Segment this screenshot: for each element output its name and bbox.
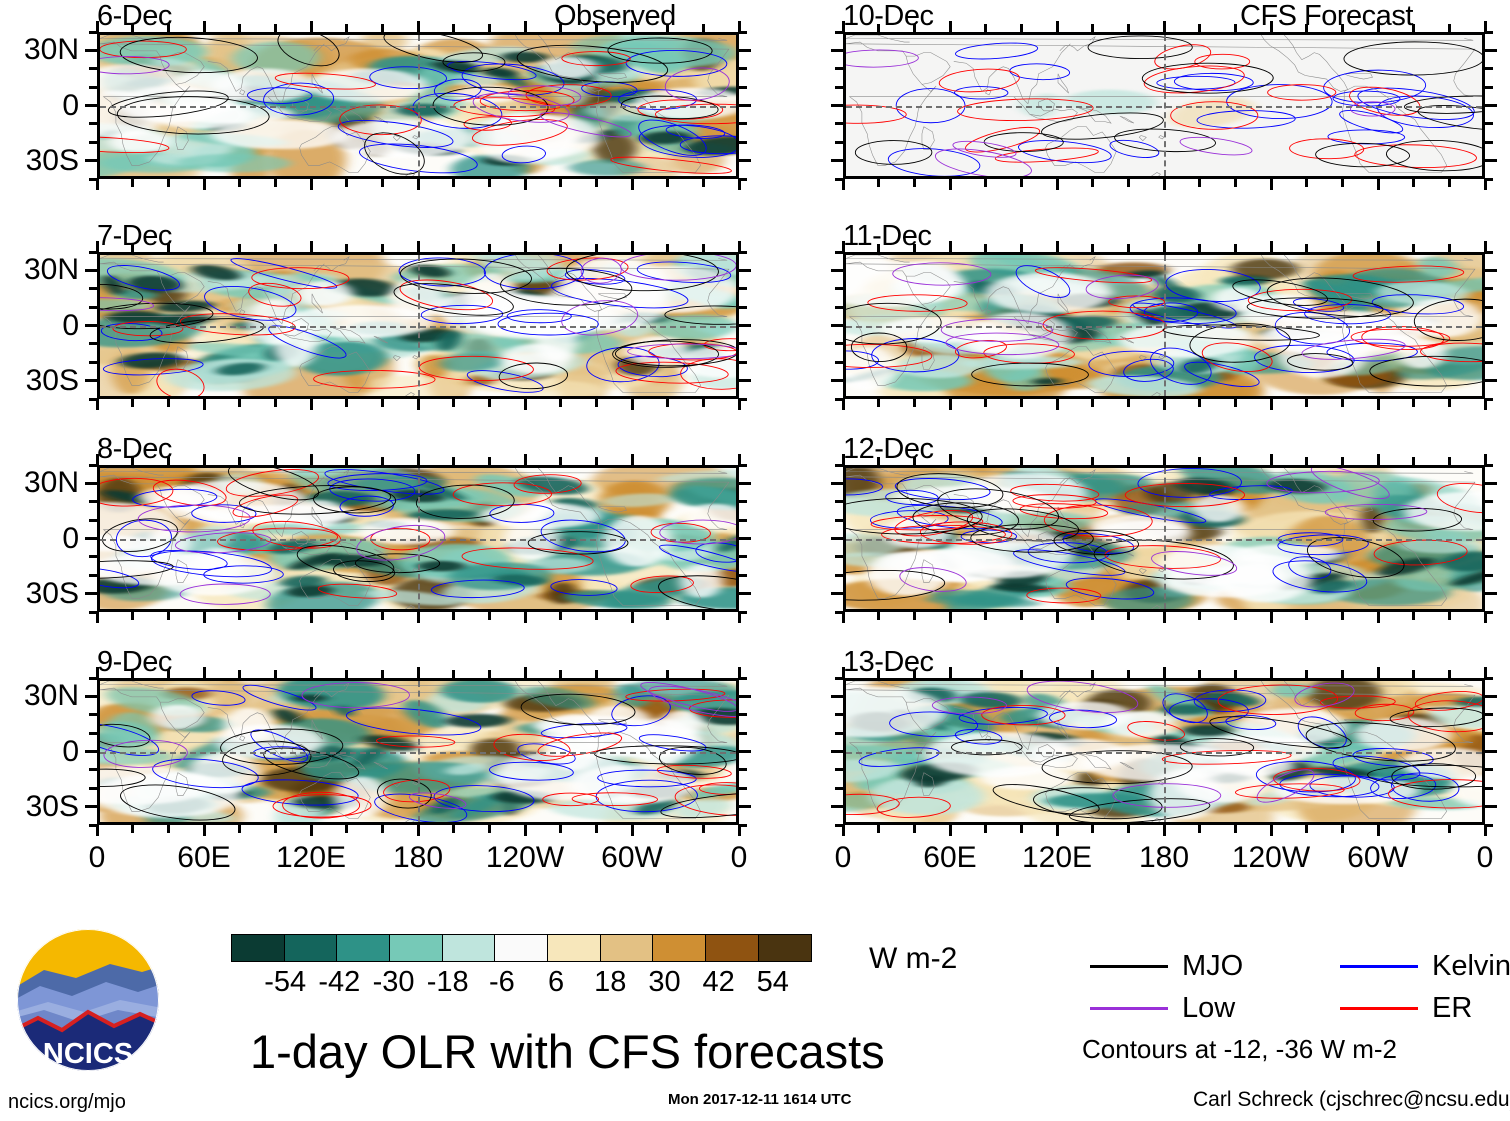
y-tick	[739, 574, 747, 577]
y-tick	[835, 464, 843, 467]
x-tick	[1234, 24, 1237, 32]
x-tick	[274, 24, 277, 32]
y-tick	[739, 342, 747, 345]
x-tick	[96, 179, 99, 190]
x-tick	[203, 454, 206, 465]
map-panel-10-dec	[843, 32, 1485, 179]
x-tick	[559, 670, 562, 678]
x-tick	[949, 612, 952, 623]
x-tick	[1377, 241, 1380, 252]
y-tick	[835, 67, 843, 70]
x-tick	[131, 179, 134, 187]
y-tick	[739, 86, 747, 89]
y-tick	[739, 824, 747, 827]
x-tick	[310, 179, 313, 190]
x-axis-label: 60E	[177, 843, 230, 873]
x-tick	[96, 825, 99, 836]
x-axis-label: 60E	[923, 843, 976, 873]
x-tick	[452, 612, 455, 620]
y-tick	[739, 611, 747, 614]
x-tick	[559, 457, 562, 465]
y-tick	[1485, 287, 1493, 290]
x-tick	[595, 825, 598, 833]
x-tick	[345, 612, 348, 620]
x-tick	[666, 244, 669, 252]
x-tick	[702, 244, 705, 252]
x-tick	[1163, 454, 1166, 465]
x-tick	[984, 24, 987, 32]
y-tick	[1485, 324, 1497, 327]
x-tick	[1198, 612, 1201, 620]
x-tick	[1234, 825, 1237, 833]
y-tick	[835, 398, 843, 401]
ncics-logo-svg: NCICS	[14, 926, 162, 1074]
y-tick	[89, 500, 97, 503]
y-tick	[835, 732, 843, 735]
y-tick	[739, 482, 751, 485]
x-tick	[1056, 399, 1059, 410]
x-tick	[595, 399, 598, 407]
x-tick	[559, 24, 562, 32]
legend-label: MJO	[1182, 952, 1243, 981]
x-tick	[1270, 612, 1273, 623]
y-tick	[89, 787, 97, 790]
x-tick	[310, 241, 313, 252]
y-tick	[739, 398, 747, 401]
y-tick	[739, 178, 747, 181]
y-tick	[89, 574, 97, 577]
x-axis-label: 120E	[276, 843, 346, 873]
x-tick	[238, 24, 241, 32]
x-tick	[702, 670, 705, 678]
colorbar-tick: -42	[318, 968, 360, 997]
x-tick	[1270, 179, 1273, 190]
x-tick	[1198, 24, 1201, 32]
x-tick	[877, 179, 880, 187]
colorbar-swatch	[284, 934, 338, 962]
x-tick	[1198, 825, 1201, 833]
y-tick	[89, 86, 97, 89]
x-tick	[1412, 24, 1415, 32]
x-tick	[666, 612, 669, 620]
ncics-logo-text: NCICS	[43, 1038, 133, 1070]
y-tick	[1485, 500, 1493, 503]
y-tick	[835, 519, 843, 522]
x-tick	[274, 179, 277, 187]
x-tick	[1056, 454, 1059, 465]
x-tick	[524, 21, 527, 32]
colorbar-tick: -54	[264, 968, 306, 997]
x-tick	[1448, 670, 1451, 678]
y-tick	[1485, 361, 1493, 364]
x-tick	[949, 179, 952, 190]
x-axis-label: 60W	[601, 843, 663, 873]
dateline	[418, 468, 420, 609]
colorbar-swatch	[389, 934, 443, 962]
colorbar-swatch	[336, 934, 390, 962]
y-tick	[835, 574, 843, 577]
x-tick	[1020, 24, 1023, 32]
x-tick	[488, 670, 491, 678]
x-tick	[131, 244, 134, 252]
y-tick	[89, 361, 97, 364]
x-tick	[524, 179, 527, 190]
x-tick	[488, 612, 491, 620]
x-tick	[738, 825, 741, 836]
colorbar-swatch	[600, 934, 654, 962]
x-tick	[167, 24, 170, 32]
x-tick	[1163, 399, 1166, 410]
x-tick	[1341, 457, 1344, 465]
y-axis-label: 0	[62, 91, 79, 121]
x-axis-label: 0	[1477, 843, 1494, 873]
x-tick	[984, 612, 987, 620]
x-tick	[1091, 457, 1094, 465]
y-tick	[89, 611, 97, 614]
x-tick	[1091, 825, 1094, 833]
x-tick	[949, 21, 952, 32]
x-tick	[452, 670, 455, 678]
x-tick	[1163, 667, 1166, 678]
y-tick	[739, 324, 751, 327]
contour-note: Contours at -12, -36 W m-2	[1082, 1036, 1397, 1062]
x-tick	[1127, 24, 1130, 32]
legend-entry-low: Low	[1090, 994, 1235, 1023]
colorbar-swatch	[494, 934, 548, 962]
x-tick	[203, 179, 206, 190]
x-tick	[913, 24, 916, 32]
y-tick	[835, 342, 843, 345]
y-tick	[1485, 86, 1493, 89]
x-tick	[1484, 399, 1487, 410]
x-tick	[238, 399, 241, 407]
y-tick	[85, 104, 97, 107]
x-tick	[1270, 454, 1273, 465]
legend-label: ER	[1432, 994, 1472, 1023]
map-panel-13-dec	[843, 678, 1485, 825]
colorbar-swatch	[705, 934, 759, 962]
x-axis-label: 0	[89, 843, 106, 873]
x-tick	[1091, 612, 1094, 620]
panel-date-label-8-dec: 8-Dec	[97, 435, 172, 464]
x-tick	[1341, 179, 1344, 187]
y-tick	[739, 750, 751, 753]
x-tick	[1198, 399, 1201, 407]
x-tick	[524, 241, 527, 252]
x-tick	[1377, 612, 1380, 623]
x-tick	[1377, 179, 1380, 190]
x-tick	[310, 612, 313, 623]
x-tick	[1305, 179, 1308, 187]
x-tick	[1377, 399, 1380, 410]
x-tick	[381, 244, 384, 252]
x-tick	[559, 825, 562, 833]
y-tick	[835, 611, 843, 614]
x-tick	[167, 612, 170, 620]
y-tick	[739, 787, 747, 790]
x-tick	[738, 179, 741, 190]
x-tick	[877, 612, 880, 620]
x-tick	[238, 179, 241, 187]
x-tick	[877, 24, 880, 32]
x-tick	[702, 399, 705, 407]
x-tick	[524, 825, 527, 836]
x-tick	[274, 670, 277, 678]
dateline	[418, 255, 420, 396]
legend-line-swatch	[1090, 965, 1168, 968]
x-tick	[1056, 612, 1059, 623]
y-tick	[1485, 695, 1497, 698]
x-tick	[1056, 825, 1059, 836]
legend-label: Kelvin	[1432, 952, 1510, 981]
x-tick	[96, 399, 99, 410]
y-tick	[835, 122, 843, 125]
y-tick	[739, 361, 747, 364]
x-tick	[1341, 24, 1344, 32]
map-panel-11-dec	[843, 252, 1485, 399]
x-tick	[702, 24, 705, 32]
x-tick	[1412, 670, 1415, 678]
y-axis-label: 30N	[24, 255, 79, 285]
x-tick	[631, 399, 634, 410]
x-tick	[984, 825, 987, 833]
y-tick	[85, 269, 97, 272]
colorbar-swatch	[758, 934, 812, 962]
x-tick	[1341, 825, 1344, 833]
x-tick	[1091, 244, 1094, 252]
y-tick	[89, 464, 97, 467]
x-tick	[1341, 244, 1344, 252]
x-tick	[381, 670, 384, 678]
x-axis-labels-right: 060E120E180120W60W0	[843, 843, 1485, 879]
x-tick	[203, 399, 206, 410]
y-tick	[835, 178, 843, 181]
x-tick	[1270, 667, 1273, 678]
x-tick	[949, 667, 952, 678]
x-tick	[1448, 179, 1451, 187]
x-tick	[1412, 179, 1415, 187]
y-tick	[85, 49, 97, 52]
y-tick	[1485, 342, 1493, 345]
x-tick	[559, 399, 562, 407]
x-tick	[1127, 179, 1130, 187]
y-tick	[85, 482, 97, 485]
x-tick	[913, 399, 916, 407]
x-tick	[1163, 612, 1166, 623]
x-tick	[452, 24, 455, 32]
legend-line-swatch	[1090, 1007, 1168, 1010]
x-tick	[1412, 612, 1415, 620]
x-tick	[1412, 457, 1415, 465]
y-tick	[1485, 732, 1493, 735]
x-tick	[238, 457, 241, 465]
y-tick	[835, 141, 843, 144]
x-tick	[1198, 179, 1201, 187]
x-tick	[1020, 399, 1023, 407]
map-panel-7-dec	[97, 252, 739, 399]
y-tick	[739, 592, 751, 595]
x-tick	[1270, 21, 1273, 32]
x-tick	[631, 179, 634, 190]
x-tick	[1377, 21, 1380, 32]
x-tick	[1127, 399, 1130, 407]
y-tick	[85, 750, 97, 753]
x-tick	[702, 612, 705, 620]
x-tick	[1056, 667, 1059, 678]
y-tick	[835, 677, 843, 680]
x-tick	[1412, 399, 1415, 407]
x-tick	[595, 24, 598, 32]
y-tick	[739, 49, 751, 52]
x-tick	[1234, 670, 1237, 678]
x-tick	[488, 24, 491, 32]
y-tick	[89, 732, 97, 735]
x-tick	[488, 457, 491, 465]
y-tick	[1485, 306, 1493, 309]
y-tick	[831, 537, 843, 540]
y-tick	[85, 324, 97, 327]
x-tick	[631, 454, 634, 465]
x-tick	[1056, 179, 1059, 190]
x-tick	[417, 454, 420, 465]
x-tick	[381, 24, 384, 32]
x-tick	[1163, 179, 1166, 190]
y-tick	[739, 555, 747, 558]
x-tick	[1020, 612, 1023, 620]
dateline	[418, 681, 420, 822]
x-tick	[631, 667, 634, 678]
y-tick	[739, 464, 747, 467]
legend-line-swatch	[1340, 965, 1418, 968]
x-tick	[1091, 670, 1094, 678]
x-tick	[1020, 670, 1023, 678]
x-tick	[238, 612, 241, 620]
y-tick	[739, 695, 751, 698]
y-tick	[835, 768, 843, 771]
y-tick	[835, 287, 843, 290]
x-tick	[1341, 399, 1344, 407]
y-tick	[739, 379, 751, 382]
y-axis-label: 30S	[26, 366, 79, 396]
dateline	[418, 35, 420, 176]
y-tick	[739, 67, 747, 70]
x-tick	[1234, 612, 1237, 620]
x-tick	[1448, 457, 1451, 465]
x-tick	[666, 457, 669, 465]
x-tick	[1484, 179, 1487, 190]
x-tick	[274, 457, 277, 465]
x-tick	[1484, 612, 1487, 623]
x-tick	[167, 825, 170, 833]
y-axis-label: 30N	[24, 468, 79, 498]
x-axis-label: 60W	[1347, 843, 1409, 873]
x-tick	[203, 667, 206, 678]
colorbar-tick: -6	[489, 968, 515, 997]
x-tick	[345, 244, 348, 252]
x-tick	[1091, 179, 1094, 187]
y-tick	[1485, 122, 1493, 125]
x-axis-label: 120W	[1232, 843, 1310, 873]
x-tick	[274, 244, 277, 252]
x-tick	[1270, 399, 1273, 410]
y-tick	[831, 159, 843, 162]
x-tick	[666, 24, 669, 32]
x-tick	[417, 825, 420, 836]
x-tick	[1163, 241, 1166, 252]
y-tick	[89, 342, 97, 345]
x-tick	[559, 612, 562, 620]
colorbar-unit-label: W m-2	[869, 944, 957, 974]
x-tick	[913, 670, 916, 678]
x-tick	[949, 241, 952, 252]
y-tick	[1485, 555, 1493, 558]
y-tick	[89, 141, 97, 144]
x-tick	[452, 244, 455, 252]
x-tick	[877, 457, 880, 465]
y-tick	[1485, 31, 1493, 34]
x-tick	[1198, 457, 1201, 465]
x-tick	[1270, 825, 1273, 836]
y-tick	[1485, 141, 1493, 144]
x-tick	[417, 667, 420, 678]
x-tick	[1020, 179, 1023, 187]
x-tick	[1377, 667, 1380, 678]
x-tick	[842, 825, 845, 836]
map-panel-9-dec	[97, 678, 739, 825]
y-tick	[1485, 159, 1497, 162]
x-tick	[203, 21, 206, 32]
colorbar-swatch	[547, 934, 601, 962]
site-url[interactable]: ncics.org/mjo	[8, 1092, 126, 1112]
y-tick	[831, 695, 843, 698]
x-tick	[524, 667, 527, 678]
x-tick	[1234, 179, 1237, 187]
author-credit: Carl Schreck (cjschrec@ncsu.edu)	[1193, 1089, 1510, 1110]
y-tick	[1485, 787, 1493, 790]
x-tick	[488, 244, 491, 252]
x-tick	[452, 825, 455, 833]
colorbar-tick: 54	[757, 968, 789, 997]
x-tick	[1448, 612, 1451, 620]
x-tick	[203, 612, 206, 623]
x-tick	[1305, 24, 1308, 32]
panel-date-label-11-dec: 11-Dec	[843, 222, 931, 251]
y-tick	[1485, 269, 1497, 272]
x-axis-label: 0	[731, 843, 748, 873]
colorbar-tick-labels: -54-42-30-18-6618304254	[231, 968, 827, 1002]
y-tick	[835, 713, 843, 716]
x-tick	[1091, 24, 1094, 32]
y-tick	[835, 306, 843, 309]
x-tick	[524, 399, 527, 410]
x-tick	[702, 457, 705, 465]
x-tick	[913, 244, 916, 252]
x-tick	[949, 454, 952, 465]
y-tick	[831, 269, 843, 272]
x-tick	[1234, 457, 1237, 465]
y-tick	[739, 732, 747, 735]
generation-timestamp: Mon 2017-12-11 1614 UTC	[668, 1092, 851, 1107]
y-tick	[1485, 104, 1497, 107]
x-tick	[984, 179, 987, 187]
y-axis-label: 30S	[26, 579, 79, 609]
y-axis-label: 0	[62, 311, 79, 341]
x-tick	[631, 612, 634, 623]
legend-entry-kelvin: Kelvin	[1340, 952, 1510, 981]
x-tick	[381, 457, 384, 465]
y-tick	[89, 251, 97, 254]
x-tick	[310, 21, 313, 32]
